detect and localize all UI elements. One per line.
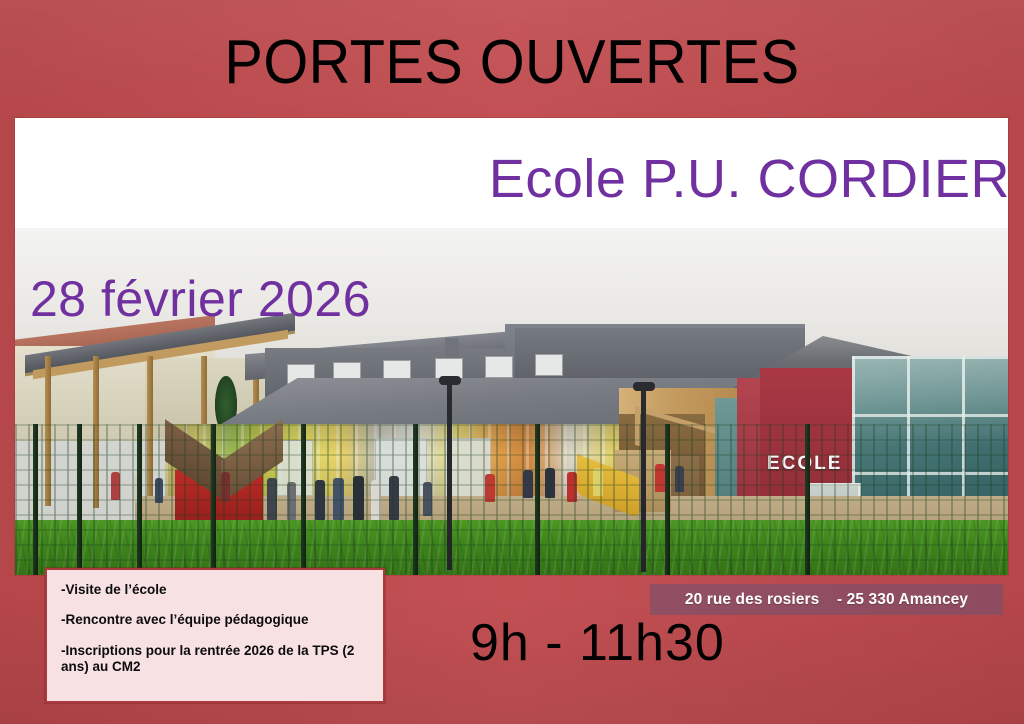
school-name-heading: Ecole P.U. CORDIER bbox=[0, 152, 1010, 206]
address-band: 20 rue des rosiers - 25 330 Amancey bbox=[650, 584, 1003, 615]
info-line-inscriptions: -Inscriptions pour la rentrée 2026 de la… bbox=[61, 643, 369, 676]
event-date-heading: 28 février 2026 bbox=[30, 274, 371, 324]
info-line-visite: -Visite de l’école bbox=[61, 582, 369, 598]
info-line-rencontre: -Rencontre avec l’équipe pédagogique bbox=[61, 612, 369, 628]
page-title: PORTES OUVERTES bbox=[36, 32, 988, 94]
info-box: -Visite de l’école -Rencontre avec l’équ… bbox=[45, 568, 385, 703]
poster-root: PORTES OUVERTES bbox=[0, 0, 1024, 724]
address-text: 20 rue des rosiers - 25 330 Amancey bbox=[685, 591, 968, 609]
opening-hours: 9h - 11h30 bbox=[470, 617, 725, 669]
